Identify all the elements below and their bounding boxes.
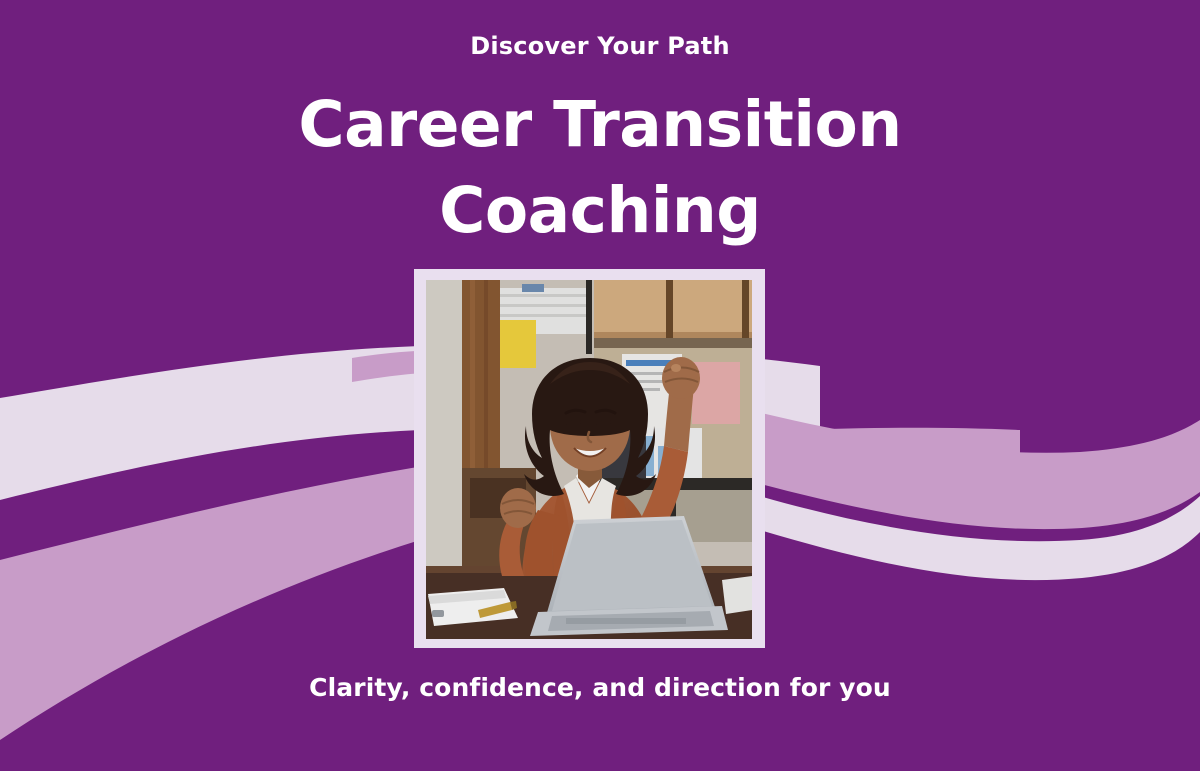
headline-line-1: Career Transition bbox=[180, 82, 1020, 168]
hero-photo-illustration bbox=[426, 280, 752, 639]
eyebrow-text: Discover Your Path bbox=[0, 32, 1200, 60]
poster-canvas: Discover Your Path Career Transition Coa… bbox=[0, 0, 1200, 771]
hero-photo bbox=[426, 280, 752, 639]
photo-frame bbox=[414, 269, 765, 648]
light-lavender-wave-right bbox=[700, 478, 1200, 580]
headline-line-2: Coaching bbox=[180, 168, 1020, 254]
page-title: Career Transition Coaching bbox=[180, 82, 1020, 253]
subtitle-text: Clarity, confidence, and direction for y… bbox=[0, 673, 1200, 702]
mauve-wave-right bbox=[700, 398, 1200, 529]
